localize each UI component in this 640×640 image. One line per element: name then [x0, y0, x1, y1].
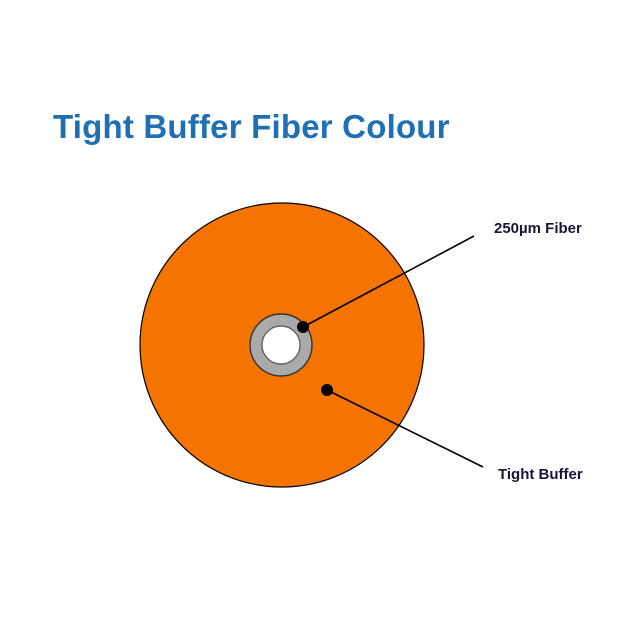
buffer-callout-dot: [321, 384, 333, 396]
fiber-callout-label: 250µm Fiber: [494, 220, 582, 237]
fiber-callout-dot: [297, 321, 309, 333]
buffer-callout-label: Tight Buffer: [498, 466, 583, 483]
fiber-cross-section-diagram: [0, 0, 640, 640]
fiber-core-circle: [262, 326, 300, 364]
diagram-canvas: Tight Buffer Fiber Colour 250µm Fiber Ti…: [0, 0, 640, 640]
